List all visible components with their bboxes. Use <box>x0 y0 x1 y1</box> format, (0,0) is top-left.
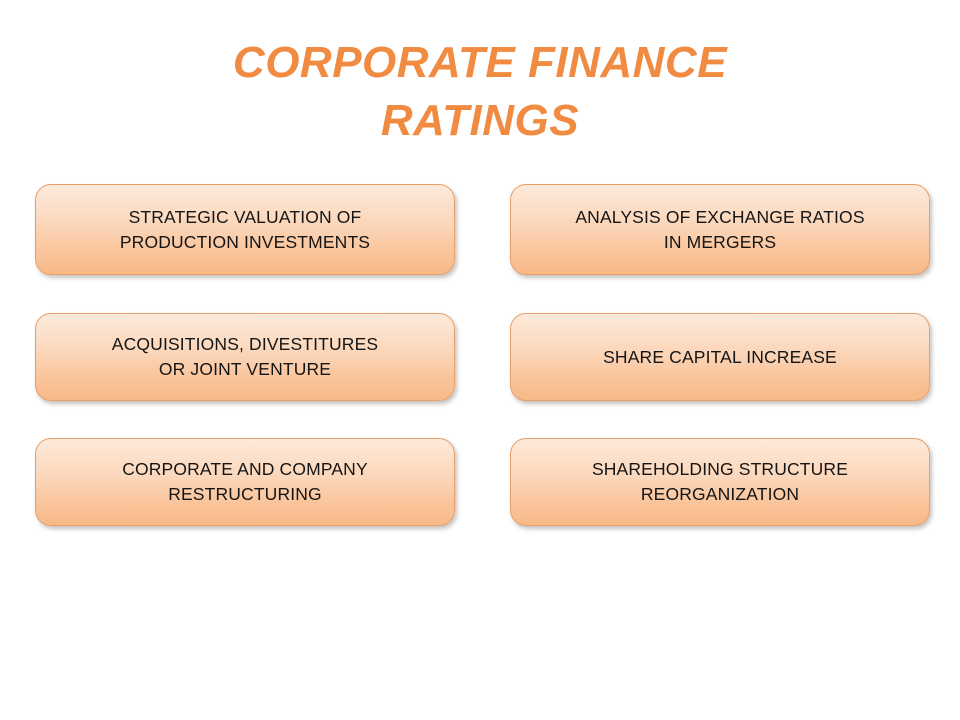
page-title-line-1: CORPORATE FINANCE <box>0 34 960 92</box>
service-box-label: CORPORATE AND COMPANY RESTRUCTURING <box>122 457 368 507</box>
service-box-analysis-of-exchange-ratios-in-mergers[interactable]: ANALYSIS OF EXCHANGE RATIOS IN MERGERS <box>510 184 930 275</box>
page-title: CORPORATE FINANCE RATINGS <box>0 34 960 150</box>
service-box-strategic-valuation-of-production-investments[interactable]: STRATEGIC VALUATION OF PRODUCTION INVEST… <box>35 184 455 275</box>
service-box-shareholding-structure-reorganization[interactable]: SHAREHOLDING STRUCTURE REORGANIZATION <box>510 438 930 526</box>
service-box-label: ANALYSIS OF EXCHANGE RATIOS IN MERGERS <box>575 205 864 255</box>
service-box-share-capital-increase[interactable]: SHARE CAPITAL INCREASE <box>510 313 930 401</box>
service-box-acquisitions-divestitures-or-joint-venture[interactable]: ACQUISITIONS, DIVESTITURES OR JOINT VENT… <box>35 313 455 401</box>
service-box-label: SHAREHOLDING STRUCTURE REORGANIZATION <box>592 457 848 507</box>
service-box-label: SHARE CAPITAL INCREASE <box>603 345 837 370</box>
service-box-label: STRATEGIC VALUATION OF PRODUCTION INVEST… <box>120 205 370 255</box>
service-box-corporate-and-company-restructuring[interactable]: CORPORATE AND COMPANY RESTRUCTURING <box>35 438 455 526</box>
service-box-label: ACQUISITIONS, DIVESTITURES OR JOINT VENT… <box>112 332 378 382</box>
slide-canvas: CORPORATE FINANCE RATINGS STRATEGIC VALU… <box>0 0 960 720</box>
page-title-line-2: RATINGS <box>0 92 960 150</box>
